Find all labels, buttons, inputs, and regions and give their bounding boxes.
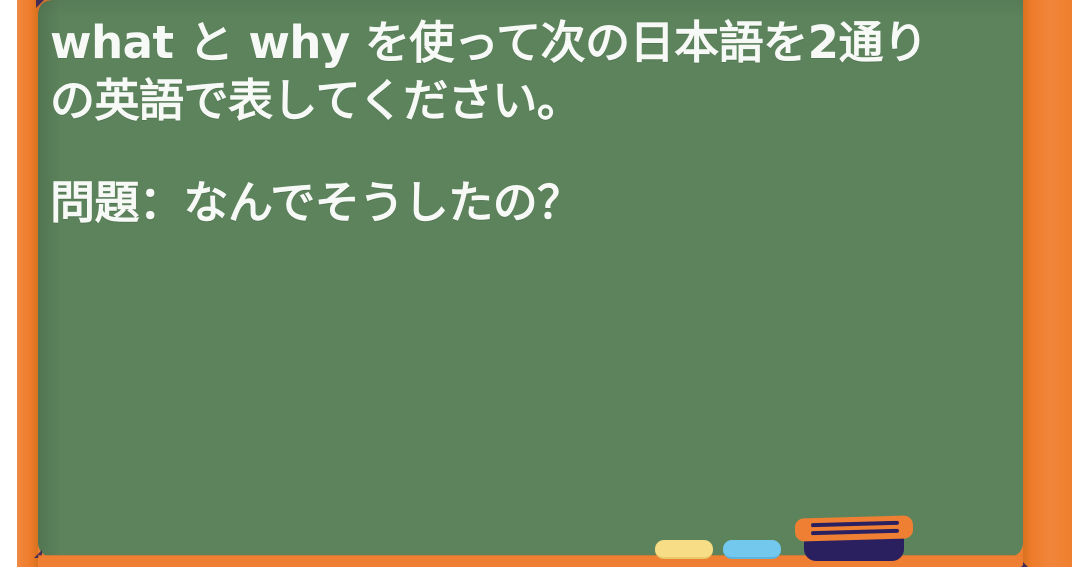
page-margin-right	[1072, 0, 1080, 567]
yellow-chalk[interactable]	[655, 540, 713, 559]
page-margin-left	[0, 0, 17, 567]
chalkboard-eraser[interactable]	[795, 517, 913, 561]
text-spacer	[50, 130, 1015, 174]
blue-chalk[interactable]	[723, 540, 781, 559]
instruction-line-1: what と why を使って次の日本語を2通り	[50, 14, 1015, 72]
question-line: 問題：なんでそうしたの？	[50, 174, 1015, 232]
chalk-text-block: what と why を使って次の日本語を2通り の英語で表してください。 問題…	[50, 14, 1015, 232]
instruction-line-2: の英語で表してください。	[50, 72, 1015, 130]
slide-canvas: what と why を使って次の日本語を2通り の英語で表してください。 問題…	[0, 0, 1080, 567]
